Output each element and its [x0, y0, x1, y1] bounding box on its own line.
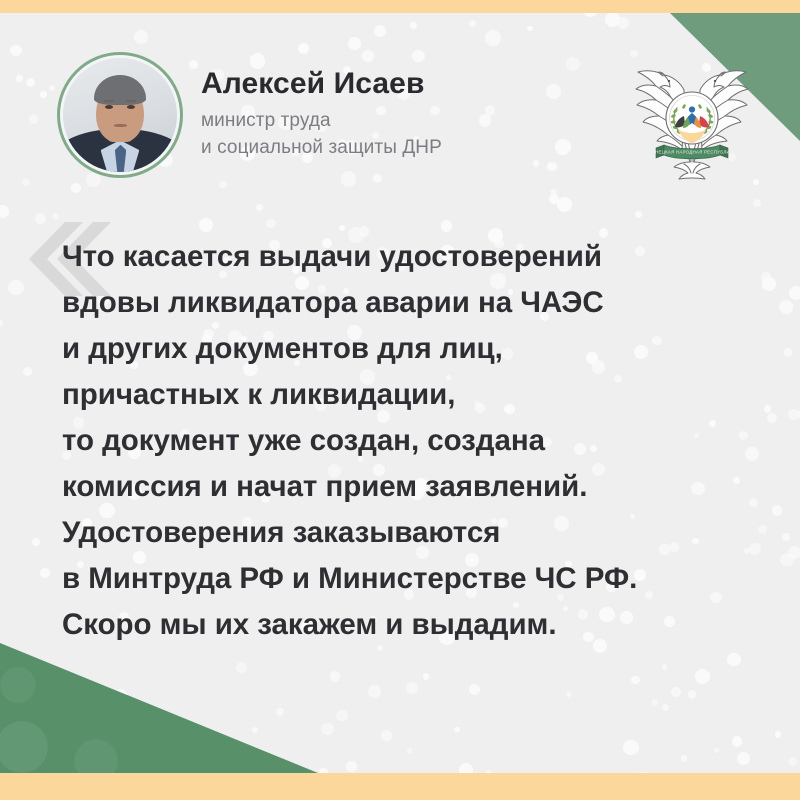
- speaker-role-line-1: министр труда: [201, 108, 621, 135]
- avatar: [57, 52, 183, 178]
- quote-line: вдовы ликвидатора аварии на ЧАЭС: [62, 280, 774, 326]
- emblem-ribbon-text: ДОНЕЦКАЯ НАРОДНАЯ РЕСПУБЛИКА: [648, 149, 736, 154]
- quote-line: комиссия и начат прием заявлений.: [62, 464, 774, 510]
- quote-line: Удостоверения заказываются: [62, 510, 774, 556]
- quote-card: Алексей Исаев министр труда и социальной…: [0, 0, 800, 800]
- speaker-role-line-2: и социальной защиты ДНР: [201, 135, 621, 162]
- quote-line: в Минтруда РФ и Министерстве ЧС РФ.: [62, 556, 774, 602]
- quote-line: Скоро мы их закажем и выдадим.: [62, 602, 774, 648]
- quote-line: причастных к ликвидации,: [62, 372, 774, 418]
- quote-line: и других документов для лиц,: [62, 326, 774, 372]
- quote-line: то документ уже создан, создана: [62, 418, 774, 464]
- green-triangle-bottom-left: [0, 643, 318, 773]
- quote-text: Что касается выдачи удостоверений вдовы …: [62, 234, 774, 648]
- portrait-avatar-icon: [63, 58, 177, 172]
- dpr-coat-of-arms-double-headed-eagle-icon: ДОНЕЦКАЯ НАРОДНАЯ РЕСПУБЛИКА: [622, 46, 762, 186]
- quote-line: Что касается выдачи удостоверений: [62, 234, 774, 280]
- speaker-role: министр труда и социальной защиты ДНР: [201, 108, 621, 162]
- speaker-identity: Алексей Исаев министр труда и социальной…: [201, 66, 621, 162]
- speaker-header: Алексей Исаев министр труда и социальной…: [0, 0, 800, 210]
- speaker-name: Алексей Исаев: [201, 66, 621, 101]
- peach-strip-bottom: [0, 773, 800, 800]
